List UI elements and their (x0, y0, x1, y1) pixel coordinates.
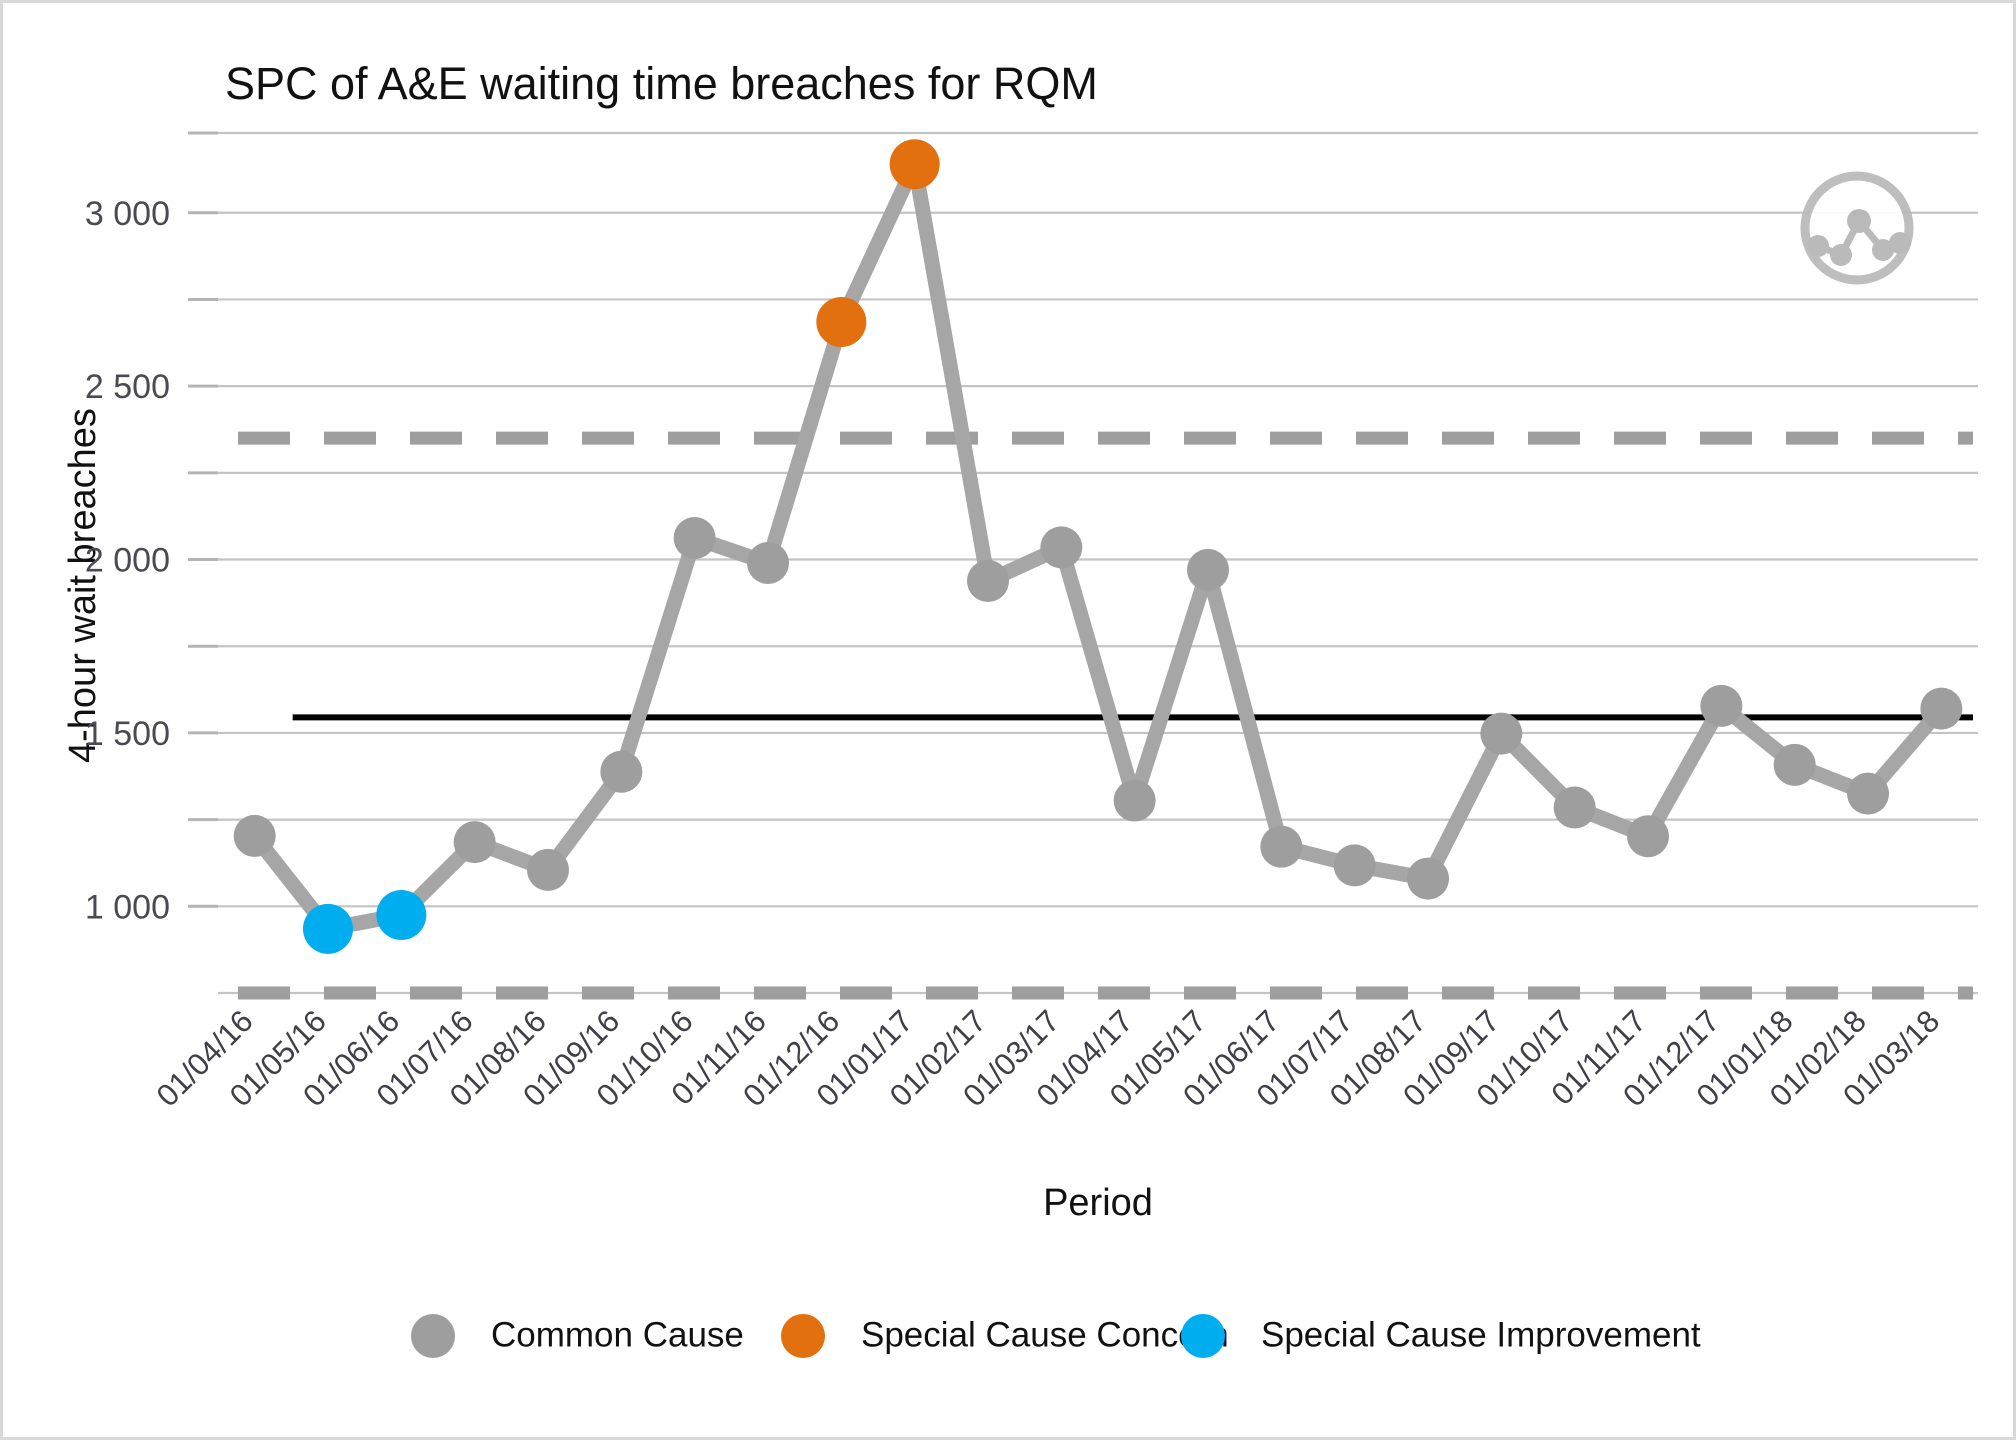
data-point-common (1774, 744, 1816, 786)
series-line (255, 164, 1942, 929)
y-tick-label: 1 000 (85, 888, 170, 926)
data-point-common (1114, 780, 1156, 822)
data-point-common (1700, 685, 1742, 727)
legend-swatch-common[interactable] (411, 1314, 455, 1358)
x-axis-title: Period (1043, 1182, 1153, 1224)
chart-legend: Common CauseSpecial Cause ConcernSpecial… (411, 1314, 1701, 1358)
legend-label-common[interactable]: Common Cause (491, 1315, 744, 1354)
legend-label-improvement[interactable]: Special Cause Improvement (1261, 1315, 1701, 1354)
data-point-common (454, 821, 496, 863)
data-point-concern (816, 297, 866, 347)
data-point-common (1920, 688, 1962, 730)
data-point-common (967, 560, 1009, 602)
data-point-common (1480, 713, 1522, 755)
y-tick-label: 2 500 (85, 368, 170, 406)
data-point-common (1847, 773, 1889, 815)
y-tick-label: 3 000 (85, 195, 170, 233)
data-point-common (1187, 549, 1229, 591)
chart-title: SPC of A&E waiting time breaches for RQM (225, 58, 1098, 109)
legend-label-concern[interactable]: Special Cause Concern (861, 1315, 1229, 1354)
data-point-improvement (303, 904, 353, 954)
data-point-common (1627, 815, 1669, 857)
gridlines (218, 133, 1978, 993)
data-point-common (747, 542, 789, 584)
data-point-common (1554, 786, 1596, 828)
data-point-common (674, 517, 716, 559)
legend-swatch-concern[interactable] (781, 1314, 825, 1358)
data-point-common (600, 751, 642, 793)
y-axis-ticks: 1 0001 5002 0002 5003 000 (85, 133, 218, 926)
data-point-common (527, 849, 569, 891)
spc-chart: SPC of A&E waiting time breaches for RQM… (3, 3, 2016, 1443)
data-point-common (234, 815, 276, 857)
y-tick-label: 2 000 (85, 542, 170, 580)
y-axis-title: 4-hour wait breaches (62, 408, 104, 763)
data-point-common (1407, 858, 1449, 900)
y-tick-label: 1 500 (85, 715, 170, 753)
series-polyline (255, 164, 1942, 929)
data-points (234, 139, 1963, 954)
data-point-common (1040, 526, 1082, 568)
x-axis-ticks: 01/04/1601/05/1601/06/1601/07/1601/08/16… (150, 1003, 1947, 1113)
legend-swatch-improvement[interactable] (1181, 1314, 1225, 1358)
spc-sparkline-logo-icon (1805, 176, 1911, 280)
data-point-concern (890, 139, 940, 189)
data-point-improvement (376, 890, 426, 940)
data-point-common (1260, 826, 1302, 868)
chart-frame: SPC of A&E waiting time breaches for RQM… (0, 0, 2016, 1440)
data-point-common (1334, 844, 1376, 886)
